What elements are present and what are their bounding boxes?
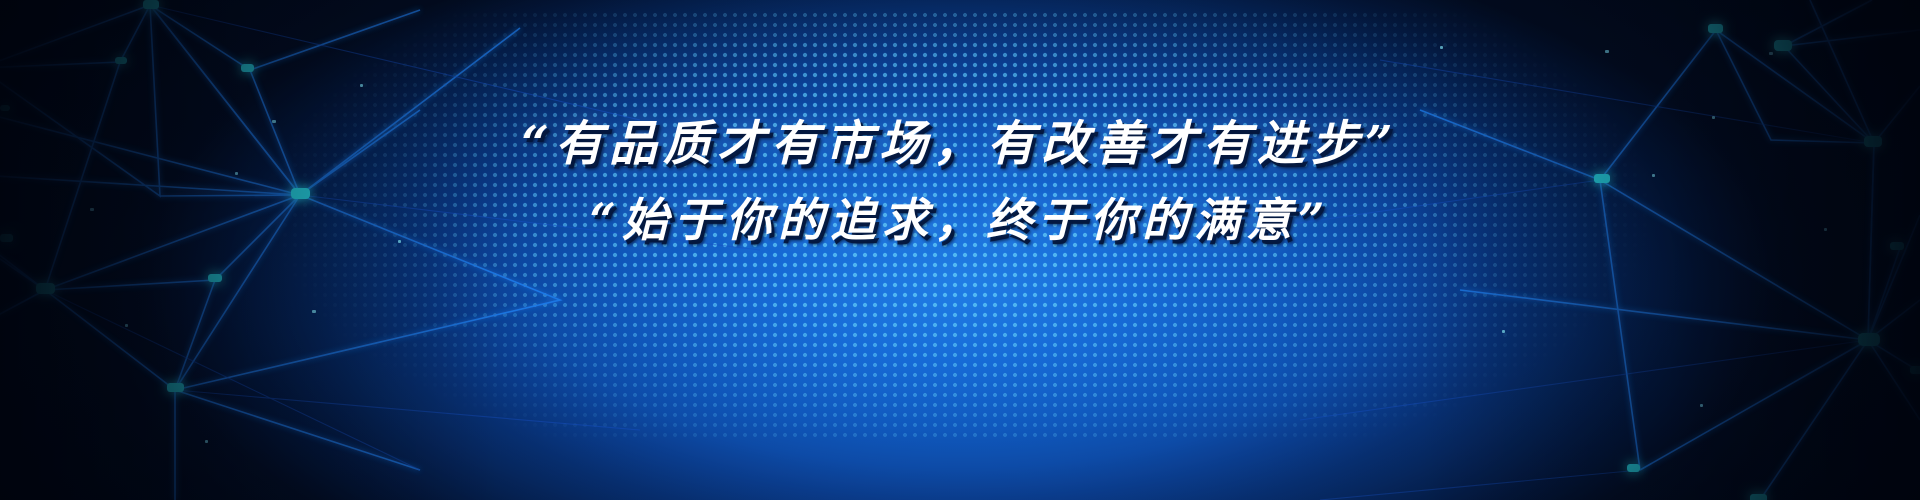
headline-line-2: “始于你的追求，终于你的满意” bbox=[0, 182, 1920, 258]
headline-line-1: “有品质才有市场，有改善才有进步” bbox=[0, 106, 1920, 182]
hero-banner: “有品质才有市场，有改善才有进步” “始于你的追求，终于你的满意” bbox=[0, 0, 1920, 500]
headline-block: “有品质才有市场，有改善才有进步” “始于你的追求，终于你的满意” bbox=[0, 106, 1920, 258]
